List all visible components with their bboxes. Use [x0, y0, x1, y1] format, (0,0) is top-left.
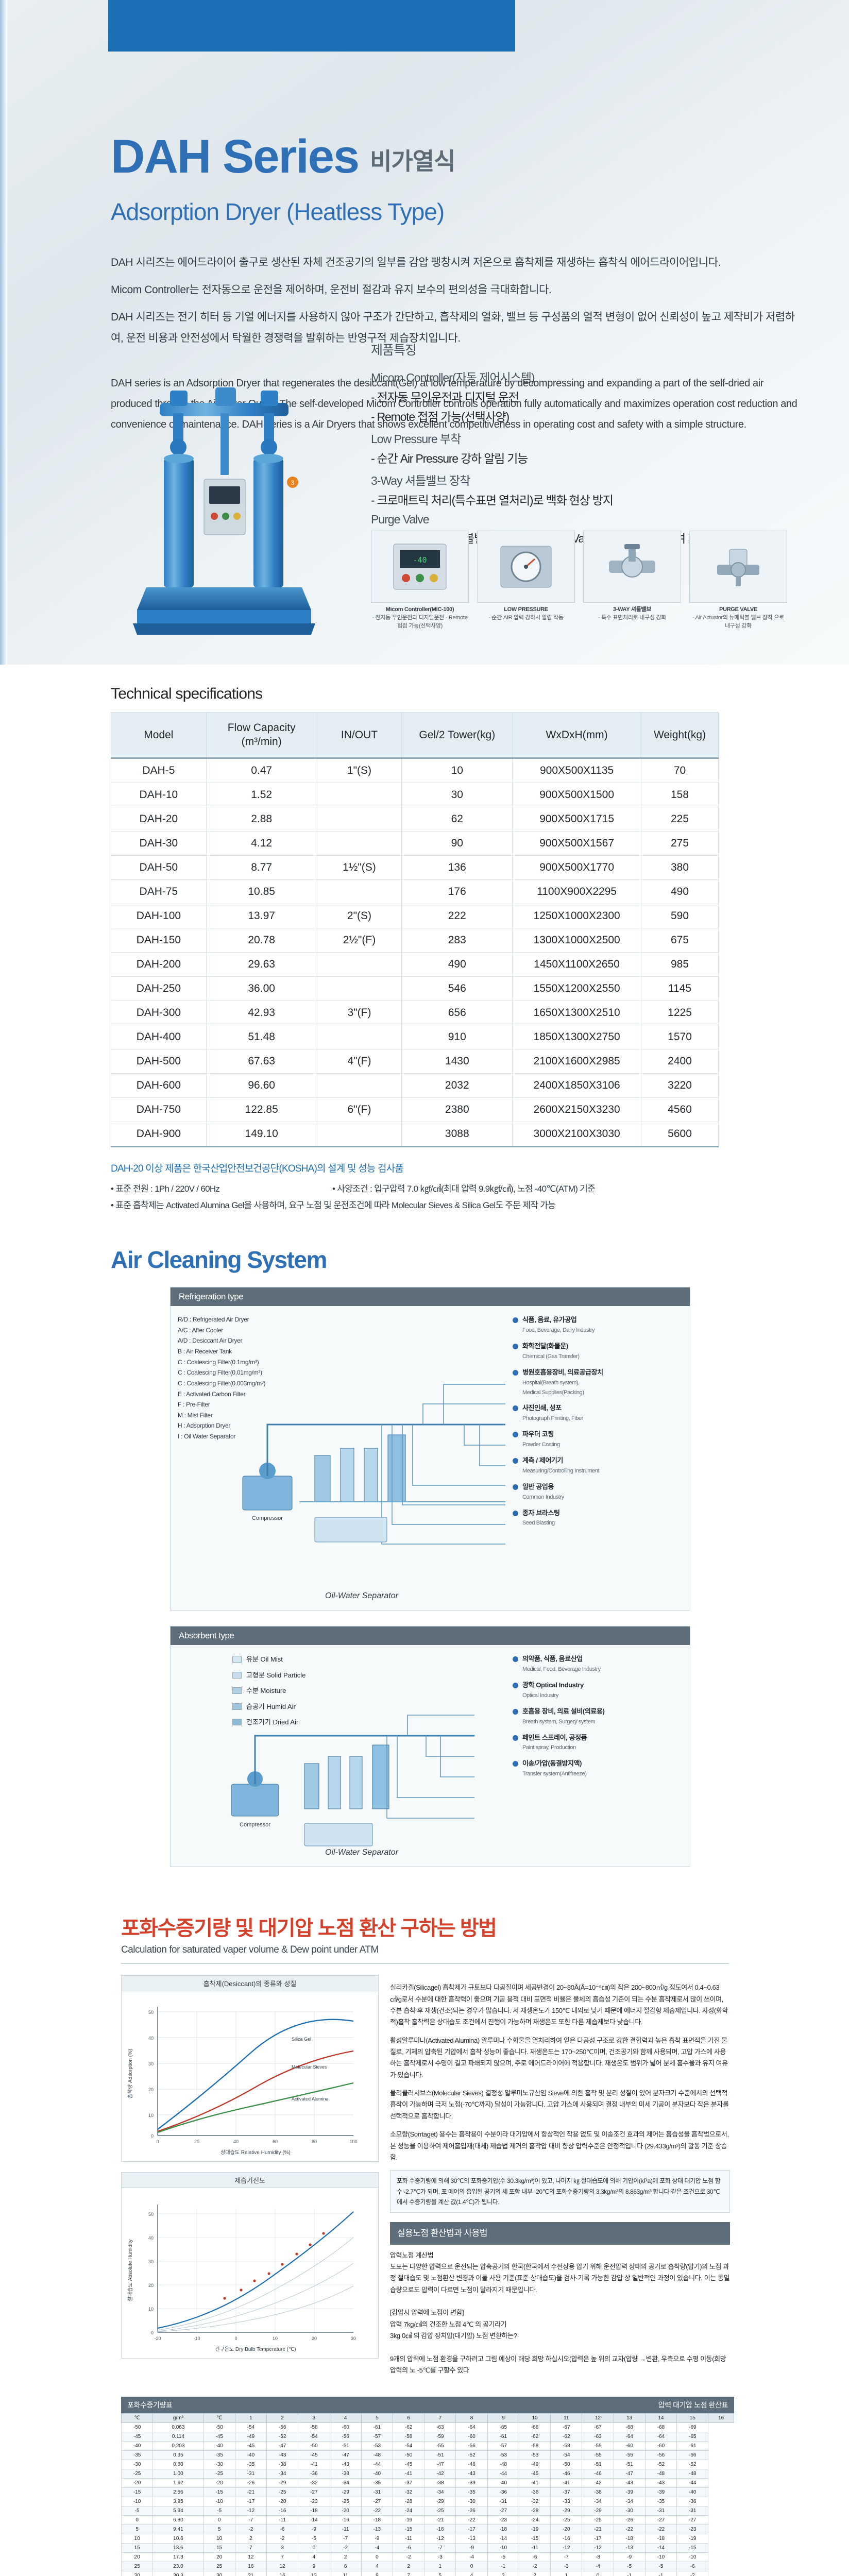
spec-cell-flow: 1.52	[206, 783, 317, 807]
col-header-pressure-5: 5	[361, 2413, 393, 2422]
conversion-table-wrap: 포화수증기량표 압력 대기압 노점 환산표 ℃g/m³℃123456789101…	[121, 2397, 734, 2576]
conversion-cell: -24	[519, 2515, 550, 2524]
application-title: 페인트 스프레이, 공정품	[522, 1733, 587, 1743]
conversion-cell: -38	[582, 2487, 614, 2497]
pressure-gauge-icon	[498, 542, 554, 591]
thumbnail-shuttle-valve: 3-WAY 셔틀밸브 - 특수 표면처리로 내구성 강화	[583, 531, 681, 631]
conversion-cell: -56	[330, 2432, 361, 2441]
refrigeration-application-list: 식품, 음료, 유가공업Food, Beverage, Dairy Indust…	[513, 1315, 683, 1534]
bullet-icon	[513, 1511, 518, 1516]
feature-thumbnail-strip: -40 Micom Controller(MIC-100) - 전자동 무인운전…	[371, 531, 814, 631]
conversion-cell: -56	[267, 2422, 298, 2432]
conversion-cell: -39	[614, 2487, 645, 2497]
conversion-cell: 7	[267, 2552, 298, 2562]
psy-body-molecular-sieves: 몰리큘러시브스(Molecular Sieves) 결정성 알루미노규산염 Si…	[390, 2088, 730, 2122]
spec-cell-flow: 20.78	[206, 928, 317, 952]
air-cleaning-system-section: Air Cleaning System Refrigeration type R…	[0, 1235, 849, 1898]
bullet-icon	[513, 1458, 518, 1464]
list-item: 페인트 스프레이, 공정품Paint spray, Production	[513, 1733, 683, 1753]
col-header-pressure-14: 14	[645, 2413, 676, 2422]
thumbnail-image-purge-valve	[689, 531, 787, 603]
spec-cell-wdh: 900X500X1500	[513, 783, 641, 807]
spec-cell-wdh: 1650X1300X2510	[513, 1001, 641, 1025]
application-text: 병원호흡용장비, 의료공급장치Hospital(Breath system), …	[522, 1368, 603, 1397]
table-row: 59.415-2-6-9-11-13-15-16-17-18-19-20-21-…	[122, 2524, 734, 2534]
col-header-pressure-8: 8	[456, 2413, 487, 2422]
col-header-flow: Flow Capacity (m³/min)	[206, 713, 317, 758]
spec-cell-wdh: 2400X1850X3106	[513, 1073, 641, 1097]
table-row: DAH-25036.005461550X1200X25501145	[111, 976, 719, 1001]
absorbent-diagram-body: 유분 Oil Mist고형분 Solid Particle수분 Moisture…	[171, 1645, 690, 1867]
spec-cell-weight: 985	[641, 952, 719, 976]
table-row: 06.800-7-11-14-16-18-19-21-22-23-24-25-2…	[122, 2515, 734, 2524]
spec-cell-model: DAH-300	[111, 1001, 207, 1025]
spec-cell-weight: 3220	[641, 1073, 719, 1097]
spec-cell-flow: 42.93	[206, 1001, 317, 1025]
conversion-cell: -25	[203, 2469, 235, 2478]
conversion-cell: 3	[487, 2571, 519, 2576]
conversion-cell: -48	[645, 2469, 676, 2478]
spec-cell-gel: 90	[402, 831, 513, 855]
conversion-cell: -34	[330, 2478, 361, 2487]
spec-cell-weight: 5600	[641, 1122, 719, 1146]
spec-cell-model: DAH-750	[111, 1097, 207, 1122]
conversion-table-head: ℃g/m³℃12345678910111213141516	[122, 2413, 734, 2422]
conversion-cell: -31	[361, 2487, 393, 2497]
conversion-cell: -57	[361, 2432, 393, 2441]
conversion-cell: 2	[519, 2571, 550, 2576]
conversion-cell: 0	[298, 2543, 330, 2552]
conversion-cell: -9	[361, 2534, 393, 2543]
spec-cell-model: DAH-30	[111, 831, 207, 855]
conversion-cell: -42	[582, 2478, 614, 2487]
conversion-cell: -20	[122, 2478, 153, 2487]
refrigeration-type-diagram: Refrigeration type R/D : Refrigerated Ai…	[170, 1287, 690, 1611]
application-title: 병원호흡용장비, 의료공급장치	[522, 1368, 603, 1378]
spec-cell-gel: 546	[402, 976, 513, 1001]
conversion-cell: -20	[330, 2506, 361, 2515]
spec-cell-inout	[317, 783, 402, 807]
bullet-icon	[513, 1317, 518, 1323]
thumbnail-caption-low-pressure: LOW PRESSURE - 순간 AIR 압력 강하시 알람 작동	[477, 606, 575, 622]
col-header-flow-label: Flow Capacity	[210, 721, 314, 735]
conversion-cell: 1	[551, 2571, 582, 2576]
conversion-cell: -22	[614, 2524, 645, 2534]
conversion-cell: -56	[456, 2441, 487, 2450]
conversion-cell: -43	[645, 2478, 676, 2487]
hero-section: DAH Series 비가열식 Adsorption Dryer (Heatle…	[0, 0, 849, 665]
list-item: 종자 브라스팅Seed Blasting	[513, 1509, 683, 1528]
conversion-cell: -6	[267, 2524, 298, 2534]
svg-text:0: 0	[151, 2330, 154, 2335]
thumb-desc-micom: - 전자동 무인운전과 디지털운전 - Remote 접점 가능(선택사양)	[372, 615, 468, 629]
adsorption-comparison-chart: 010 2030 4050 020 4060 80100 Silica GelM…	[122, 1991, 378, 2161]
conversion-cell: 0.35	[153, 2450, 203, 2460]
spec-cell-model: DAH-250	[111, 976, 207, 1001]
spec-cell-wdh: 2600X2150X3230	[513, 1097, 641, 1122]
svg-text:40: 40	[233, 2139, 239, 2144]
conversion-cell: -12	[551, 2543, 582, 2552]
conversion-cell: 0.063	[153, 2422, 203, 2432]
conversion-cell: -66	[519, 2422, 550, 2432]
spec-cell-weight: 675	[641, 928, 719, 952]
application-title: 종자 브라스팅	[522, 1509, 560, 1518]
svg-text:-10: -10	[193, 2336, 200, 2341]
feature-group-micom: Micom Controller(자동 제어시스템) - 전자동 무인운전과 디…	[371, 368, 701, 425]
conversion-cell: -51	[614, 2460, 645, 2469]
conversion-cell: -15	[519, 2534, 550, 2543]
svg-text:3: 3	[291, 479, 295, 486]
application-title: 광학 Optical Industry	[522, 1681, 584, 1690]
spec-cell-weight: 158	[641, 783, 719, 807]
svg-text:-20: -20	[154, 2336, 161, 2341]
spec-cell-inout: 4"(F)	[317, 1049, 402, 1073]
conversion-cell: -51	[424, 2450, 456, 2460]
thumbnail-micom-controller: -40 Micom Controller(MIC-100) - 전자동 무인운전…	[371, 531, 469, 631]
table-row: DAH-60096.6020322400X1850X31063220	[111, 1073, 719, 1097]
spec-cell-flow: 122.85	[206, 1097, 317, 1122]
spec-cell-gel: 1430	[402, 1049, 513, 1073]
technical-specifications-section: Technical specifications Model Flow Capa…	[0, 665, 849, 1235]
conversion-cell: -19	[519, 2524, 550, 2534]
purge-valve-icon	[710, 542, 767, 591]
table-row: -201.62-20-26-29-32-34-35-37-38-39-40-41…	[122, 2478, 734, 2487]
conversion-cell: -30	[614, 2506, 645, 2515]
thumbnail-image-micom: -40	[371, 531, 469, 603]
list-item: 광학 Optical IndustryOptical Industry	[513, 1681, 683, 1700]
conversion-cell: -45	[235, 2441, 266, 2450]
feature-group-low-pressure: Low Pressure 부착 - 순간 Air Pressure 강하 알림 …	[371, 429, 701, 466]
spec-cell-gel: 656	[402, 1001, 513, 1025]
application-subtitle: Seed Blasting	[522, 1520, 555, 1526]
conversion-cell: -41	[393, 2469, 424, 2478]
list-item: 이송/가압(동결방지액)Transfer system(Antifreeze)	[513, 1759, 683, 1778]
conversion-cell: -16	[267, 2506, 298, 2515]
conversion-cell: -9	[456, 2543, 487, 2552]
spec-cell-weight: 275	[641, 831, 719, 855]
conversion-cell: -15	[393, 2524, 424, 2534]
thumbnail-caption-micom: Micom Controller(MIC-100) - 전자동 무인운전과 디지…	[371, 606, 469, 631]
thumb-title-shuttle-valve: 3-WAY 셔틀밸브	[583, 606, 681, 614]
col-header-temperature: ℃	[122, 2413, 153, 2422]
chart1-plot-area: 010 2030 4050 020 4060 80100 Silica GelM…	[122, 1991, 378, 2161]
conversion-cell: 0.60	[153, 2460, 203, 2469]
conversion-cell: -21	[582, 2524, 614, 2534]
conversion-cell: -38	[267, 2460, 298, 2469]
conversion-cell: -19	[677, 2534, 708, 2543]
conversion-cell: -9	[614, 2552, 645, 2562]
conversion-cell: -36	[298, 2469, 330, 2478]
col-header-model: Model	[111, 713, 207, 758]
col-header-atm-dewpoint: ℃	[203, 2413, 235, 2422]
svg-text:40: 40	[148, 2036, 154, 2041]
conversion-cell: -48	[677, 2469, 708, 2478]
thumb-title-low-pressure: LOW PRESSURE	[477, 606, 575, 614]
absorbent-diagram-heading: Absorbent type	[171, 1626, 690, 1645]
conversion-cell: -31	[235, 2469, 266, 2478]
conversion-table-heading-right: 압력 대기압 노점 환산표	[658, 2400, 728, 2410]
col-header-flow-unit: (m³/min)	[210, 735, 314, 749]
application-subtitle: Medical, Food, Beverage Industry	[522, 1666, 601, 1672]
table-row: -103.95-10-17-20-23-25-27-28-29-30-31-32…	[122, 2497, 734, 2506]
conversion-cell: 20	[122, 2552, 153, 2562]
spec-cell-wdh: 900X500X1135	[513, 758, 641, 783]
conversion-cell: -22	[645, 2524, 676, 2534]
conversion-cell: -13	[456, 2534, 487, 2543]
conversion-cell: -35	[235, 2460, 266, 2469]
conversion-cell: -33	[551, 2497, 582, 2506]
spec-cell-gel: 62	[402, 807, 513, 831]
conversion-cell: -42	[424, 2469, 456, 2478]
conversion-cell: -56	[645, 2450, 676, 2460]
conversion-cell: -14	[298, 2515, 330, 2524]
conversion-cell: -29	[551, 2506, 582, 2515]
spec-cell-wdh: 900X500X1715	[513, 807, 641, 831]
col-header-pressure-1: 1	[235, 2413, 266, 2422]
col-header-pressure-7: 7	[424, 2413, 456, 2422]
spec-table-body: DAH-50.471"(S)10900X500X113570DAH-101.52…	[111, 758, 719, 1146]
bullet-icon	[513, 1370, 518, 1376]
feature-detail-micom-1: - 전자동 무인운전과 디지털 운전	[371, 387, 701, 405]
conversion-cell: 5.94	[153, 2506, 203, 2515]
conversion-cell: -9	[298, 2524, 330, 2534]
application-subtitle: Common Industry	[522, 1494, 564, 1500]
svg-text:50: 50	[148, 2010, 154, 2015]
conversion-cell: -11	[519, 2543, 550, 2552]
conversion-cell: -27	[487, 2506, 519, 2515]
conversion-cell: -61	[677, 2441, 708, 2450]
application-title: 의약품, 식품, 음료산업	[522, 1654, 601, 1664]
table-row: -55.94-5-12-16-18-20-22-24-25-26-27-28-2…	[122, 2506, 734, 2515]
conversion-cell: -47	[424, 2460, 456, 2469]
conversion-cell: -68	[645, 2422, 676, 2432]
chart2-caption: 제습기선도	[122, 2173, 378, 2188]
conversion-cell: -29	[267, 2478, 298, 2487]
conversion-cell: -32	[298, 2478, 330, 2487]
table-row: 2523.0251612964210-1-2-3-4-5-5-6	[122, 2562, 734, 2571]
spec-cell-wdh: 900X500X1770	[513, 855, 641, 879]
conversion-cell: -61	[487, 2432, 519, 2441]
conversion-cell: -2	[235, 2524, 266, 2534]
svg-text:0: 0	[234, 2336, 237, 2341]
conversion-cell: -54	[393, 2441, 424, 2450]
spec-cell-wdh: 1300X1000X2500	[513, 928, 641, 952]
conversion-cell: -53	[519, 2450, 550, 2460]
conversion-cell: 6	[330, 2562, 361, 2571]
table-row: DAH-304.1290900X500X1567275	[111, 831, 719, 855]
desc-kr-line-2: Micom Controller는 전자동으로 운전을 제어하며, 운전비 절감…	[111, 280, 801, 301]
spec-cell-flow: 67.63	[206, 1049, 317, 1073]
bullet-icon	[513, 1405, 518, 1411]
list-item: 일반 공업용Common Industry	[513, 1482, 683, 1502]
conversion-cell: -1	[614, 2571, 645, 2576]
conversion-cell: 25	[122, 2562, 153, 2571]
conversion-cell: -31	[487, 2497, 519, 2506]
spec-cell-flow: 51.48	[206, 1025, 317, 1049]
svg-text:10: 10	[148, 2113, 154, 2118]
product-type-korean: 비가열식	[370, 143, 455, 180]
thumb-title-micom: Micom Controller(MIC-100)	[371, 606, 469, 614]
conversion-cell: -67	[582, 2422, 614, 2432]
spec-cell-wdh: 1850X1300X2750	[513, 1025, 641, 1049]
conversion-cell: -43	[330, 2460, 361, 2469]
bullet-icon	[513, 1432, 518, 1437]
conversion-cell: -40	[361, 2469, 393, 2478]
conversion-cell: 2.56	[153, 2487, 203, 2497]
conversion-cell: -21	[235, 2487, 266, 2497]
conversion-cell: -16	[551, 2534, 582, 2543]
conversion-cell: -1	[645, 2571, 676, 2576]
conversion-cell: -37	[393, 2478, 424, 2487]
conversion-cell: 3.95	[153, 2497, 203, 2506]
feature-detail-micom-2: - Remote 접점 가능(선택사양)	[371, 407, 701, 425]
svg-text:60: 60	[273, 2139, 278, 2144]
svg-text:20: 20	[194, 2139, 199, 2144]
conversion-cell: 1.00	[153, 2469, 203, 2478]
conversion-cell: -25	[424, 2506, 456, 2515]
conversion-cell: 9	[361, 2571, 393, 2576]
col-header-pressure-16: 16	[708, 2413, 734, 2422]
conversion-cell: -51	[582, 2460, 614, 2469]
oil-water-separator-label-refrigeration: Oil-Water Separator	[325, 1591, 398, 1601]
conversion-cell: -15	[677, 2543, 708, 2552]
conversion-cell: 16	[267, 2571, 298, 2576]
absorbent-type-diagram: Absorbent type 유분 Oil Mist고형분 Solid Part…	[170, 1626, 690, 1867]
spec-cell-flow: 0.47	[206, 758, 317, 783]
conversion-cell: 9	[298, 2562, 330, 2571]
svg-text:30: 30	[351, 2336, 356, 2341]
conversion-cell: -17	[582, 2534, 614, 2543]
conversion-cell: -32	[393, 2487, 424, 2497]
psy-subtitle: Calculation for saturated vaper volume &…	[121, 1944, 849, 1956]
conversion-cell: -34	[614, 2497, 645, 2506]
application-subtitle: Paint spray, Production	[522, 1744, 576, 1751]
conversion-cell: -50	[298, 2441, 330, 2450]
list-item: 호흡용 장비, 의료 설비(의료용)Breath system, Surgery…	[513, 1707, 683, 1726]
conversion-cell: -55	[582, 2450, 614, 2460]
conversion-cell: 7	[393, 2571, 424, 2576]
spec-cell-gel: 10	[402, 758, 513, 783]
conversion-cell: 0	[203, 2515, 235, 2524]
spec-cell-gel: 30	[402, 783, 513, 807]
spec-cell-flow: 96.60	[206, 1073, 317, 1097]
conversion-cell: 10	[122, 2534, 153, 2543]
adsorption-dryer-illustration: 3	[103, 381, 345, 649]
spec-cell-model: DAH-500	[111, 1049, 207, 1073]
conversion-cell: -50	[203, 2422, 235, 2432]
table-row: -251.00-25-31-34-36-38-40-41-42-43-44-45…	[122, 2469, 734, 2478]
conversion-cell: -12	[582, 2543, 614, 2552]
product-description-korean: DAH 시리즈는 에어드라이어 출구로 생산된 자체 건조공기의 일부를 감압 …	[111, 252, 801, 349]
conversion-cell: -60	[645, 2441, 676, 2450]
conversion-cell: 15	[122, 2543, 153, 2552]
spec-cell-gel: 2380	[402, 1097, 513, 1122]
features-heading: 제품특징	[371, 340, 701, 359]
spec-cell-weight: 590	[641, 904, 719, 928]
conversion-cell: -15	[122, 2487, 153, 2497]
conversion-cell: -53	[361, 2441, 393, 2450]
spec-cell-flow: 4.12	[206, 831, 317, 855]
svg-text:0: 0	[151, 2133, 154, 2139]
spec-cell-inout	[317, 1073, 402, 1097]
conversion-cell: -19	[393, 2515, 424, 2524]
conversion-cell: 3	[267, 2543, 298, 2552]
conversion-cell: 7	[235, 2543, 266, 2552]
spec-cell-inout	[317, 879, 402, 904]
oil-water-separator-label-absorbent: Oil-Water Separator	[325, 1848, 398, 1857]
thumbnail-image-low-pressure	[477, 531, 575, 603]
conversion-cell: -47	[614, 2469, 645, 2478]
feature-detail-shuttle-valve-1: - 크로매트릭 처리(특수표면 열처리)로 백화 현상 방지	[371, 490, 701, 508]
spec-cell-model: DAH-900	[111, 1122, 207, 1146]
application-title: 파우더 코팅	[522, 1430, 560, 1439]
conversion-cell: -40	[677, 2487, 708, 2497]
spec-cell-model: DAH-600	[111, 1073, 207, 1097]
conversion-cell: -52	[456, 2450, 487, 2460]
application-text: 페인트 스프레이, 공정품Paint spray, Production	[522, 1733, 587, 1753]
conversion-table-heading-left: 포화수증기량표	[127, 2400, 172, 2410]
psy-charts-column: 흡착제(Desiccant)의 종류와 성질	[121, 1975, 379, 2383]
conversion-cell: -12	[424, 2534, 456, 2543]
table-row: DAH-508.771½"(S)136900X500X1770380	[111, 855, 719, 879]
spec-cell-model: DAH-5	[111, 758, 207, 783]
conversion-cell: -68	[614, 2422, 645, 2432]
refrigeration-flow-schematic: Compressor	[237, 1347, 526, 1589]
conversion-cell: 21	[235, 2571, 266, 2576]
table-row: DAH-101.5230900X500X1500158	[111, 783, 719, 807]
conversion-cell: 30	[122, 2571, 153, 2576]
psychrometric-section: 포화수증기량 및 대기압 노점 환산 구하는 방법 Calculation fo…	[0, 1898, 849, 2576]
conversion-cell: -23	[487, 2515, 519, 2524]
conversion-cell: -18	[361, 2515, 393, 2524]
conversion-cell: -10	[677, 2552, 708, 2562]
svg-text:절대습도 Absolute Humidity: 절대습도 Absolute Humidity	[127, 2240, 133, 2301]
conversion-cell: -3	[551, 2562, 582, 2571]
conversion-cell: -10	[122, 2497, 153, 2506]
conversion-cell: -16	[330, 2515, 361, 2524]
conversion-cell: -47	[267, 2441, 298, 2450]
conversion-cell: -25	[551, 2515, 582, 2524]
spec-cell-inout	[317, 1122, 402, 1146]
table-row: DAH-40051.489101850X1300X27501570	[111, 1025, 719, 1049]
spec-cell-model: DAH-200	[111, 952, 207, 976]
thumbnail-low-pressure: LOW PRESSURE - 순간 AIR 압력 강하시 알람 작동	[477, 531, 575, 631]
conversion-cell: -16	[424, 2524, 456, 2534]
conversion-cell: -60	[330, 2422, 361, 2432]
conversion-cell: -38	[424, 2478, 456, 2487]
conversion-cell: -11	[393, 2534, 424, 2543]
application-subtitle: Photograph Printing, Fiber	[522, 1415, 583, 1421]
table-row: DAH-7510.851761100X900X2295490	[111, 879, 719, 904]
svg-text:건구온도 Dry Bulb Temperature (℃): 건구온도 Dry Bulb Temperature (℃)	[215, 2346, 296, 2352]
psy-body-silicagel: 실리카겔(Silicagel) 흡착제가 규토보다 다공질이며 세공반경이 20…	[390, 1982, 730, 2028]
bullet-icon	[513, 1484, 518, 1490]
svg-text:10: 10	[148, 2307, 154, 2312]
feature-heading-purge-valve: Purge Valve	[371, 513, 701, 527]
product-subtitle-english: Adsorption Dryer (Heatless Type)	[111, 198, 806, 226]
conversion-cell: -59	[424, 2432, 456, 2441]
legend-color-swatch	[232, 1672, 242, 1679]
svg-text:20: 20	[148, 2283, 154, 2288]
conversion-cell: 15	[203, 2543, 235, 2552]
col-header-gel: Gel/2 Tower(kg)	[402, 713, 513, 758]
conversion-cell: -36	[677, 2497, 708, 2506]
conversion-cell: 13.6	[153, 2543, 203, 2552]
conversion-cell: -60	[614, 2441, 645, 2450]
conversion-cell: -2	[519, 2562, 550, 2571]
conversion-cell: -35	[361, 2478, 393, 2487]
list-item: 사진인쇄, 성포Photograph Printing, Fiber	[513, 1403, 683, 1423]
